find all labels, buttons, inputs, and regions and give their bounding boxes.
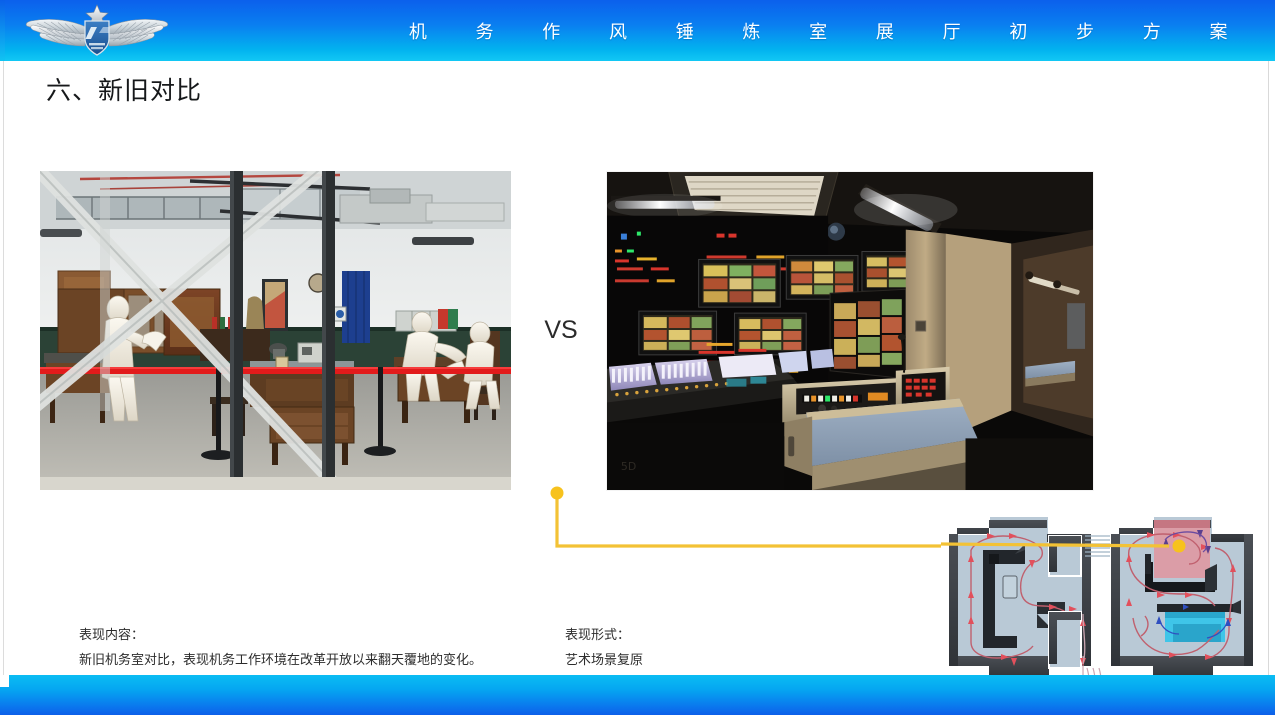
header-title-block: 机 务 作 风 锤 炼 室 展 厅 初 步 方 案 bbox=[409, 0, 1249, 61]
header-left-accent bbox=[0, 0, 5, 61]
leader-target-dot bbox=[1173, 540, 1186, 553]
content-left-rule bbox=[3, 61, 4, 675]
slide-canvas: 机 务 作 风 锤 炼 室 展 厅 初 步 方 案 六、新旧对比 bbox=[0, 0, 1275, 715]
photo-old-maintenance-room bbox=[40, 171, 511, 490]
slide-header-bar: 机 务 作 风 锤 炼 室 展 厅 初 步 方 案 bbox=[0, 0, 1275, 61]
floorplan-thumbnail[interactable] bbox=[941, 506, 1261, 696]
footer-left-notch bbox=[0, 675, 9, 687]
svg-text:5D: 5D bbox=[621, 460, 636, 473]
caption-content-heading: 表现内容： bbox=[79, 623, 482, 648]
header-title-text: 机 务 作 风 锤 炼 室 展 厅 初 步 方 案 bbox=[409, 18, 1249, 44]
caption-content-body: 新旧机务室对比，表现机务工作环境在改革开放以来翻天覆地的变化。 bbox=[79, 648, 482, 673]
pilot-wings-badge-icon bbox=[23, 3, 171, 59]
slide-footer-bar: 陕 西 精 藏 展 览 装 饰 有 限 公 司 bbox=[0, 675, 1275, 715]
leader-origin-dot bbox=[551, 487, 564, 500]
caption-content: 表现内容： 新旧机务室对比，表现机务工作环境在改革开放以来翻天覆地的变化。 bbox=[79, 623, 482, 673]
page-title: 六、新旧对比 bbox=[46, 71, 202, 107]
caption-form-heading: 表现形式： bbox=[565, 623, 643, 648]
caption-form-body: 艺术场景复原 bbox=[565, 648, 643, 673]
caption-form: 表现形式： 艺术场景复原 bbox=[565, 623, 643, 673]
vs-label: VS bbox=[541, 316, 581, 345]
content-right-rule bbox=[1268, 61, 1269, 675]
photo-new-control-room: 5D bbox=[606, 171, 1094, 491]
